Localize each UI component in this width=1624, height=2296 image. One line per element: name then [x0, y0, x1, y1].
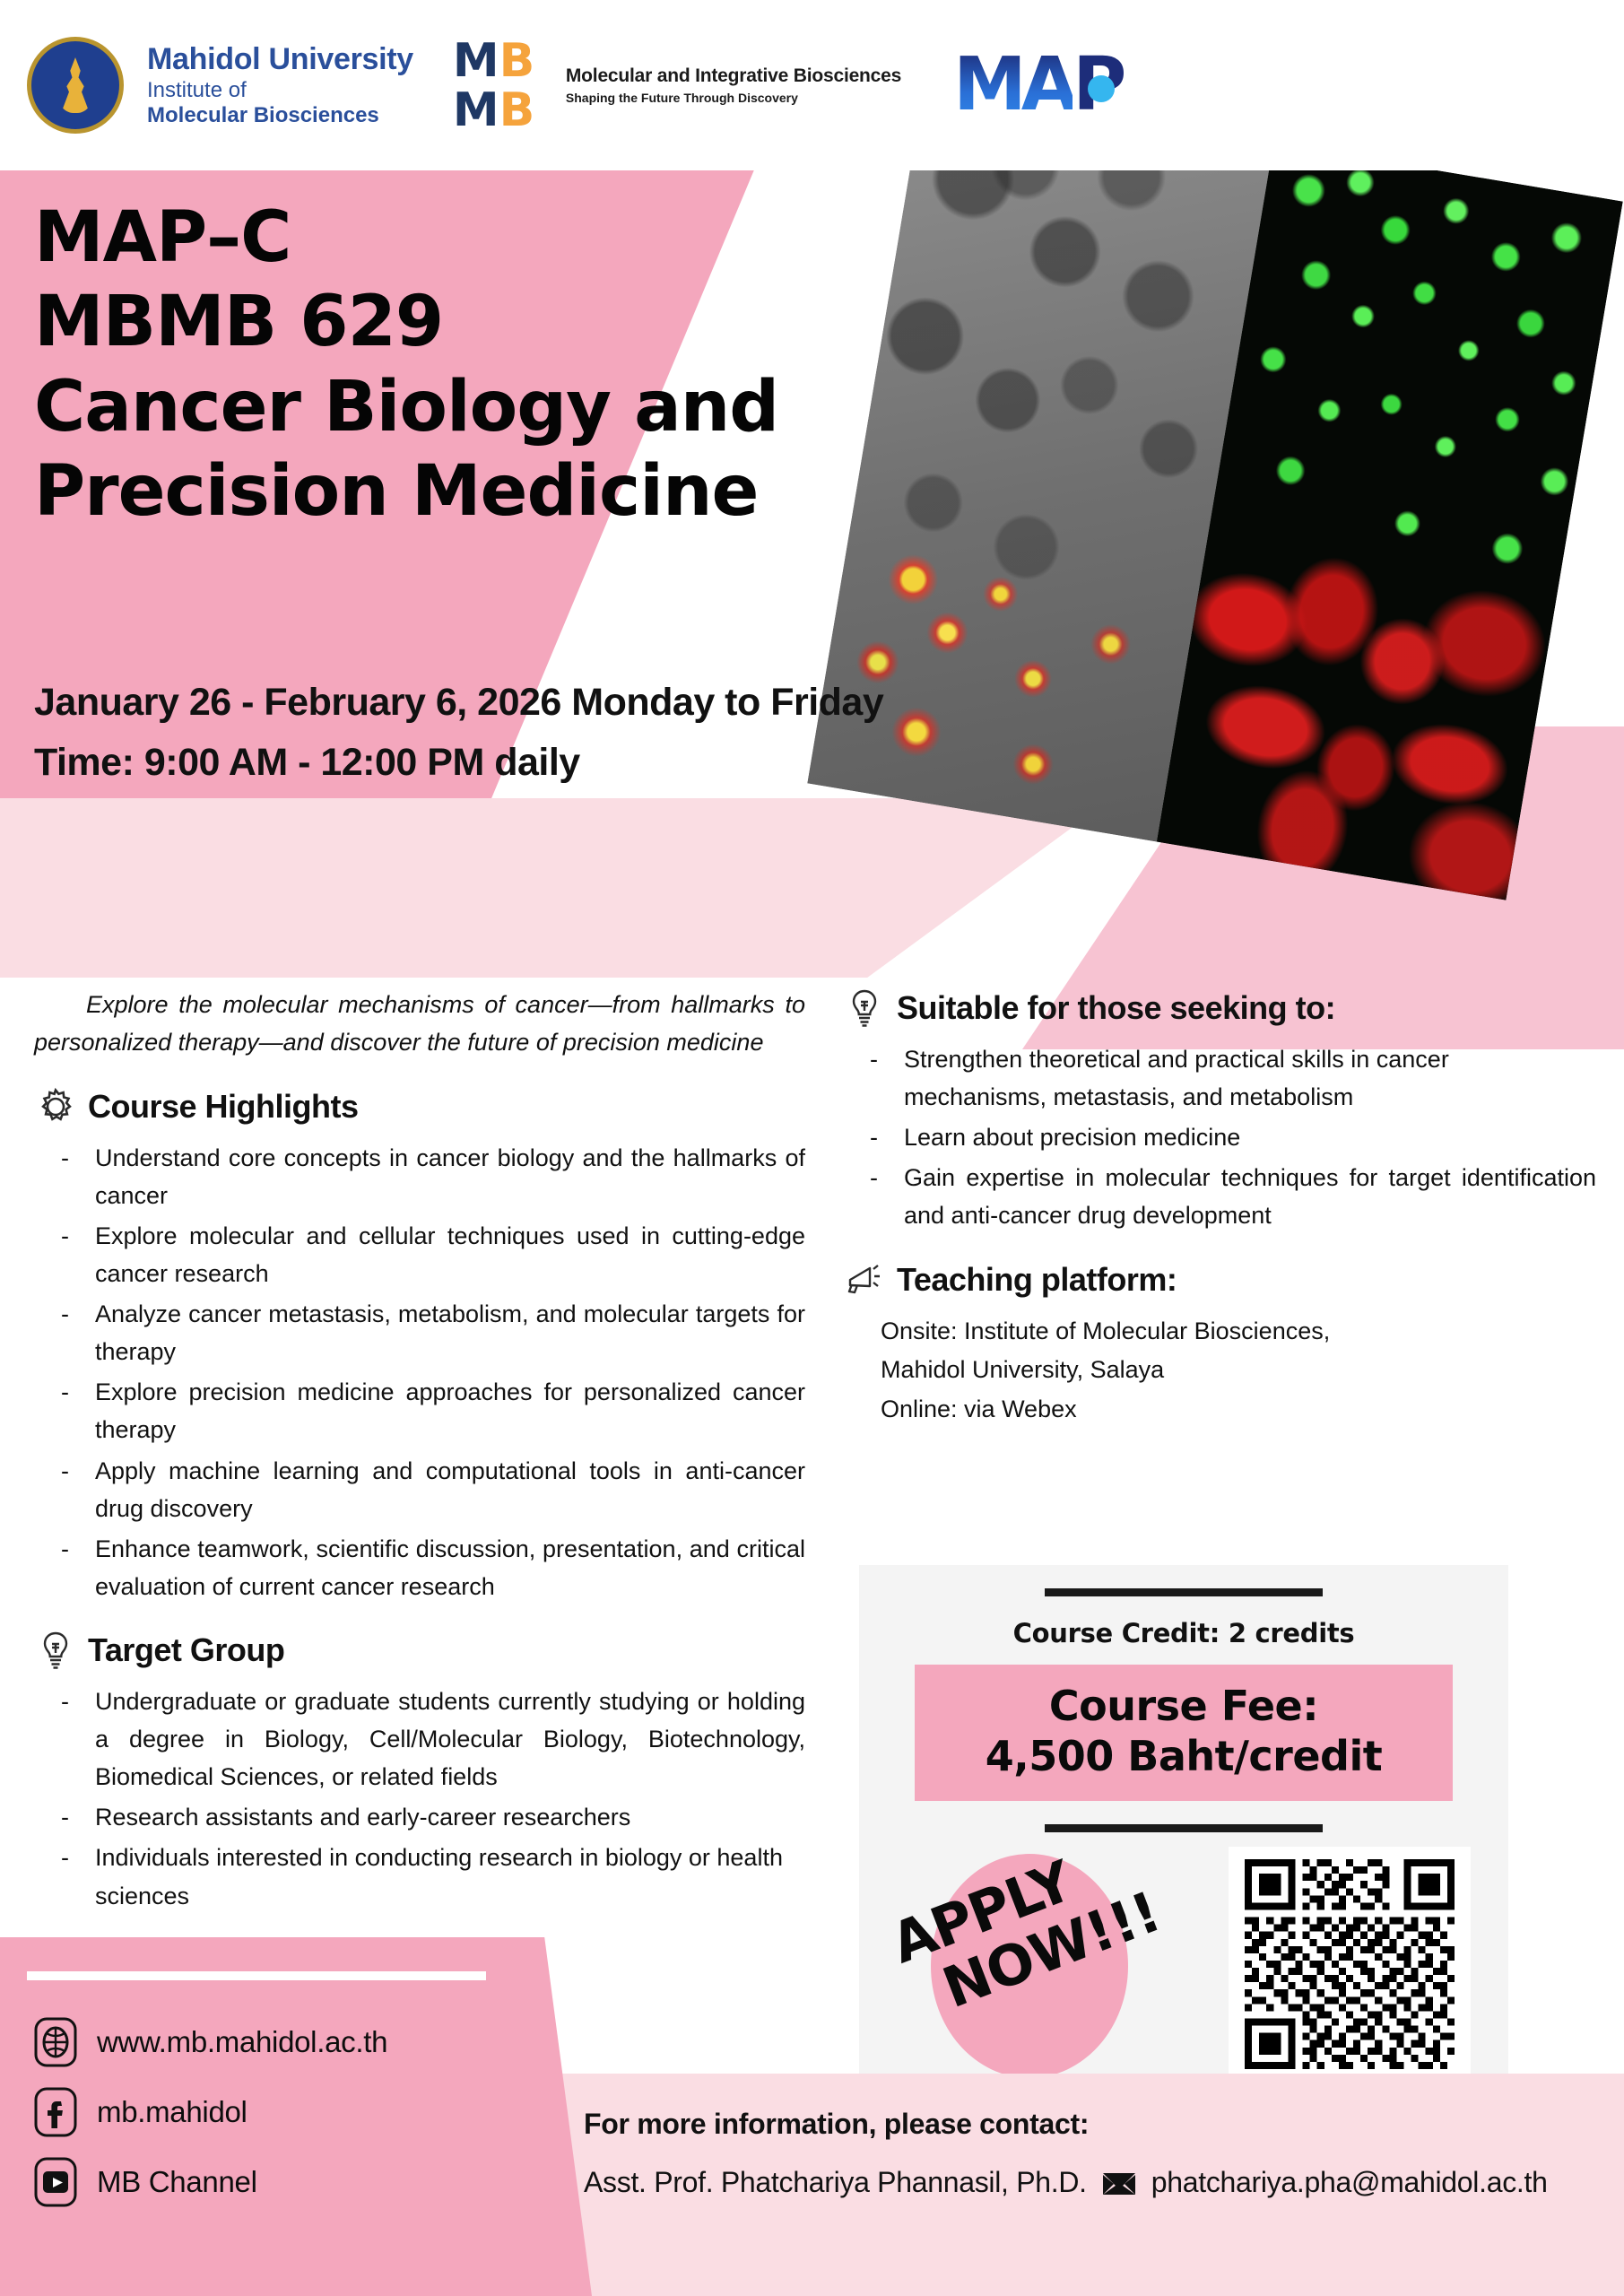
suitable-title: Suitable for those seeking to: — [897, 989, 1335, 1027]
hero-pink-light-band — [0, 798, 1112, 978]
teaching-platform-heading: Teaching platform: — [843, 1258, 1596, 1301]
list-item: Enhance teamwork, scientific discussion,… — [39, 1530, 805, 1605]
mahidol-university-logo-text: Mahidol University Institute of Molecula… — [147, 41, 413, 129]
globe-icon — [34, 2017, 77, 2067]
facebook-label: mb.mahidol — [97, 2095, 248, 2129]
target-group-heading: Target Group — [34, 1629, 805, 1672]
teaching-platform-title: Teaching platform: — [897, 1261, 1177, 1299]
social-row-youtube[interactable]: MB Channel — [34, 2147, 592, 2217]
title-line-2: MBMB 629 — [34, 280, 778, 364]
course-schedule: January 26 - February 6, 2026 Monday to … — [34, 673, 883, 792]
course-time: Time: 9:00 AM - 12:00 PM daily — [34, 733, 883, 793]
target-group-title: Target Group — [88, 1631, 284, 1669]
teaching-platform-details: Onsite: Institute of Molecular Bioscienc… — [881, 1312, 1596, 1430]
mbmb-tagline: Shaping the Future Through Discovery — [566, 90, 901, 107]
course-highlights-heading: Course Highlights — [34, 1085, 805, 1128]
platform-line-3: Online: via Webex — [881, 1390, 1596, 1430]
youtube-label: MB Channel — [97, 2165, 257, 2199]
right-column: Suitable for those seeking to: Strengthe… — [843, 987, 1596, 1430]
list-item: Analyze cancer metastasis, metabolism, a… — [39, 1295, 805, 1370]
course-highlights-title: Course Highlights — [88, 1088, 359, 1126]
title-line-3: Cancer Biology and — [34, 365, 778, 449]
list-item: Strengthen theoretical and practical ski… — [848, 1040, 1596, 1116]
list-item: Apply machine learning and computational… — [39, 1452, 805, 1527]
footer-social-panel: www.mb.mahidol.ac.th mb.mahidol MB Chann… — [0, 1937, 592, 2296]
contact-name: Asst. Prof. Phatchariya Phannasil, Ph.D. — [584, 2166, 1087, 2199]
suitable-list: Strengthen theoretical and practical ski… — [848, 1040, 1596, 1235]
mbmb-logo-icon: MB MB — [453, 36, 543, 135]
list-item: Explore molecular and cellular technique… — [39, 1217, 805, 1292]
course-lede: Explore the molecular mechanisms of canc… — [34, 987, 805, 1062]
list-item: Understand core concepts in cancer biolo… — [39, 1139, 805, 1214]
title-line-1: MAP–C — [34, 196, 778, 280]
gear-icon — [34, 1085, 77, 1128]
mbmb-logo-text: Molecular and Integrative Biosciences Sh… — [566, 64, 901, 106]
hero-section: MAP–C MBMB 629 Cancer Biology and Precis… — [0, 170, 1624, 978]
left-column: Explore the molecular mechanisms of canc… — [34, 987, 805, 1918]
contact-heading: For more information, please contact: — [584, 2108, 1624, 2141]
megaphone-icon — [843, 1258, 886, 1301]
mu-institute-line1: Institute of — [147, 78, 413, 104]
website-label: www.mb.mahidol.ac.th — [97, 2025, 387, 2059]
mahidol-seal-icon — [27, 37, 124, 134]
contact-email-link[interactable]: phatchariya.pha@mahidol.ac.th — [1151, 2166, 1548, 2199]
course-highlights-list: Understand core concepts in cancer biolo… — [39, 1139, 805, 1605]
footer-contact-panel: For more information, please contact: As… — [440, 2074, 1624, 2296]
platform-line-2: Mahidol University, Salaya — [881, 1351, 1596, 1390]
lightbulb-icon — [843, 987, 886, 1030]
footer-divider — [27, 1971, 486, 1980]
list-item: Gain expertise in molecular techniques f… — [848, 1159, 1596, 1234]
social-row-facebook[interactable]: mb.mahidol — [34, 2077, 592, 2147]
lightbulb-icon — [34, 1629, 77, 1672]
target-group-list: Undergraduate or graduate students curre… — [39, 1683, 805, 1915]
social-row-website[interactable]: www.mb.mahidol.ac.th — [34, 2007, 592, 2077]
contact-row: Asst. Prof. Phatchariya Phannasil, Ph.D.… — [584, 2166, 1624, 2199]
map-logo-icon: MAP — [953, 45, 1123, 126]
list-item: Explore precision medicine approaches fo… — [39, 1373, 805, 1448]
poster-title: MAP–C MBMB 629 Cancer Biology and Precis… — [34, 196, 778, 535]
list-item: Learn about precision medicine — [848, 1118, 1596, 1156]
youtube-icon — [34, 2157, 77, 2207]
list-item: Research assistants and early-career res… — [39, 1798, 805, 1836]
list-item: Undergraduate or graduate students curre… — [39, 1683, 805, 1796]
mu-institute-line2: Molecular Biosciences — [147, 103, 413, 129]
mbmb-title: Molecular and Integrative Biosciences — [566, 64, 901, 89]
suitable-heading: Suitable for those seeking to: — [843, 987, 1596, 1030]
social-links: www.mb.mahidol.ac.th mb.mahidol MB Chann… — [34, 2007, 592, 2217]
mail-icon — [1101, 2170, 1137, 2196]
microscopy-image — [807, 84, 1623, 900]
facebook-icon — [34, 2087, 77, 2137]
list-item: Individuals interested in conducting res… — [39, 1839, 805, 1914]
mu-name: Mahidol University — [147, 41, 413, 78]
course-dates: January 26 - February 6, 2026 Monday to … — [34, 673, 883, 733]
logo-bar: Mahidol University Institute of Molecula… — [0, 0, 1624, 170]
platform-line-1: Onsite: Institute of Molecular Bioscienc… — [881, 1312, 1596, 1352]
title-line-4: Precision Medicine — [34, 449, 778, 534]
